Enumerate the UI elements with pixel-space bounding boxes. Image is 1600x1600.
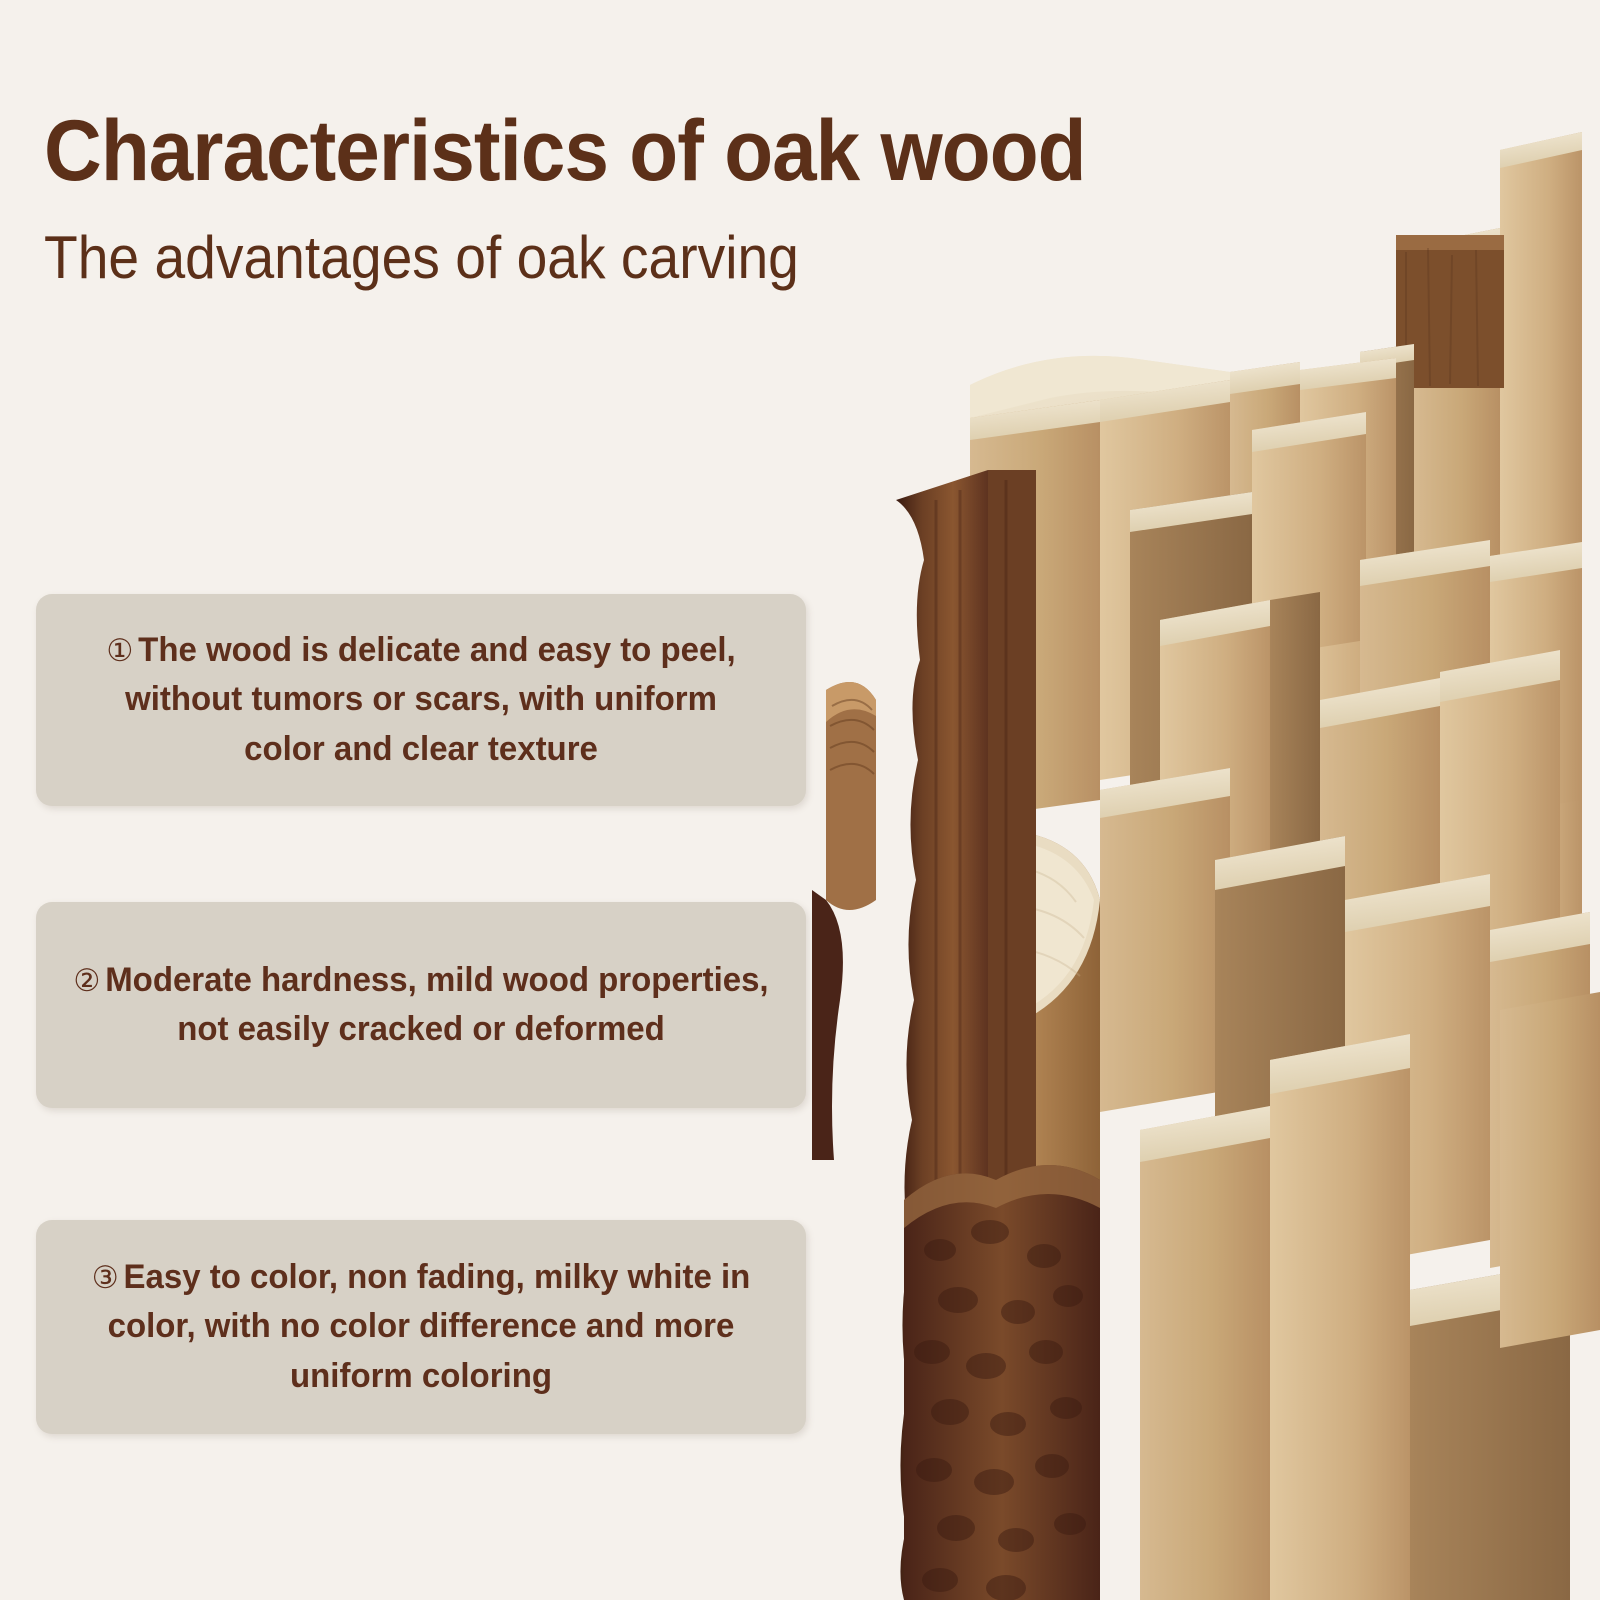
feature-1-text-1: The wood is delicate and easy to peel, <box>138 631 735 669</box>
feature-1-line-1: ①The wood is delicate and easy to peel, <box>73 626 769 675</box>
feature-3-line-1: ③Easy to color, non fading, milky white … <box>73 1253 769 1302</box>
feature-1-marker: ① <box>106 633 133 669</box>
feature-2-line-1: ②Moderate hardness, mild wood properties… <box>73 956 769 1005</box>
feature-2-marker: ② <box>73 963 100 999</box>
bark-textured-block <box>904 1165 1100 1600</box>
feature-3-line-3: uniform coloring <box>73 1352 769 1401</box>
page-subtitle: The advantages of oak carving <box>44 228 1074 288</box>
feature-box-1: ①The wood is delicate and easy to peel, … <box>36 594 806 806</box>
feature-3-line-2: color, with no color difference and more <box>73 1302 769 1351</box>
feature-2-text-1: Moderate hardness, mild wood properties, <box>105 961 768 999</box>
feature-box-3: ③Easy to color, non fading, milky white … <box>36 1220 806 1434</box>
poster-canvas: Characteristics of oak wood The advantag… <box>0 0 1600 1600</box>
header: Characteristics of oak wood The advantag… <box>44 108 1164 288</box>
feature-1-line-3: color and clear texture <box>73 725 769 774</box>
feature-2-line-2: not easily cracked or deformed <box>73 1005 769 1054</box>
feature-3-text-1: Easy to color, non fading, milky white i… <box>124 1258 751 1296</box>
feature-3-marker: ③ <box>92 1260 119 1296</box>
page-title: Characteristics of oak wood <box>44 108 1086 194</box>
feature-box-2: ②Moderate hardness, mild wood properties… <box>36 902 806 1108</box>
feature-1-line-2: without tumors or scars, with uniform <box>73 675 769 724</box>
